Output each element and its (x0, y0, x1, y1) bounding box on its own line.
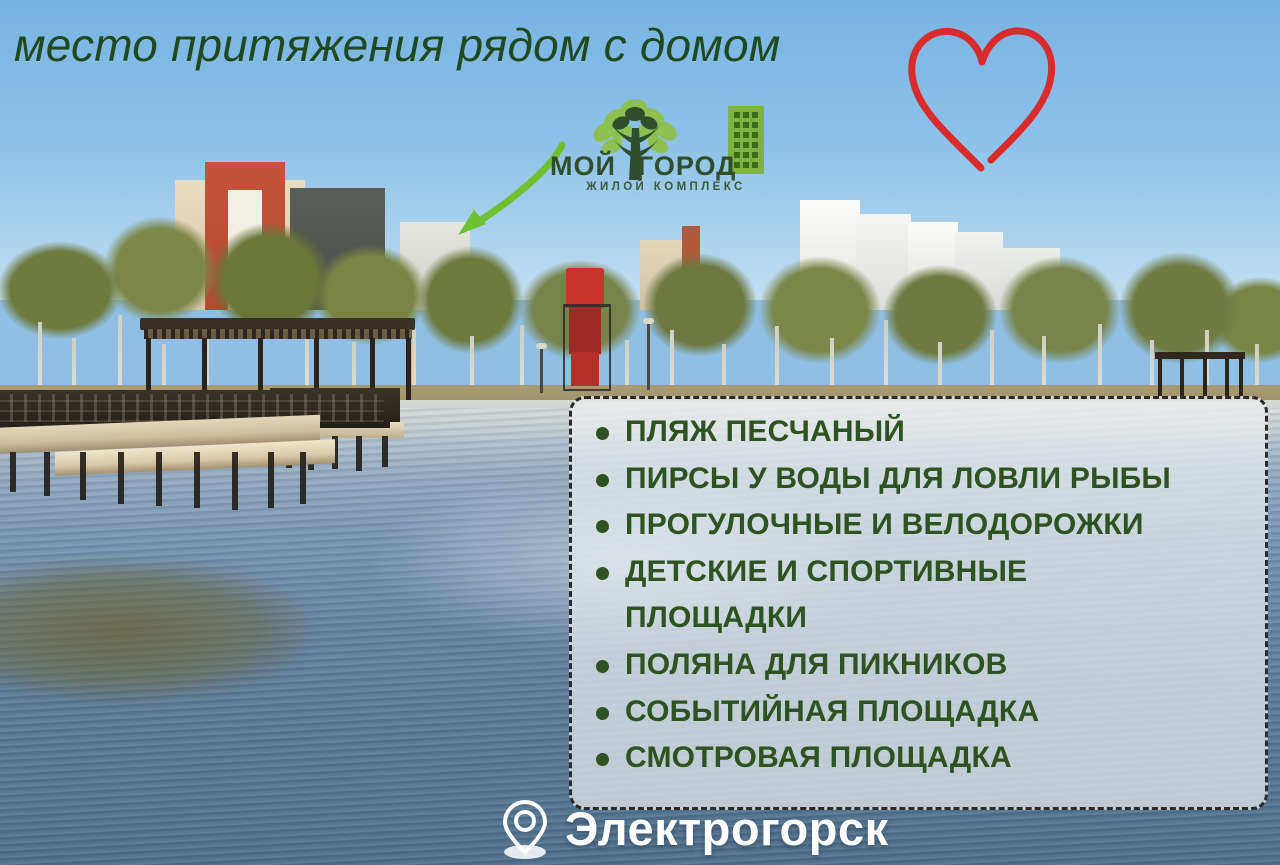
feature-label: ПОЛЯНА ДЛЯ ПИКНИКОВ (625, 650, 1255, 681)
bullet-icon (596, 707, 609, 720)
pavilion-pergola (140, 318, 415, 398)
logo: МОЙГОРОД ЖИЛОЙ КОМПЛЕКС (546, 98, 786, 203)
bullet-icon (596, 567, 609, 580)
headline-text: место притяжения рядом с домом (14, 22, 781, 68)
feature-label: СОБЫТИЙНАЯ ПЛОЩАДКА (625, 697, 1255, 728)
logo-brand-name: МОЙГОРОД (550, 153, 782, 180)
lamp-head (536, 343, 547, 349)
city-name: Электрогорск (565, 805, 889, 852)
heart-icon (903, 18, 1063, 173)
list-item: ПРОГУЛОЧНЫЕ И ВЕЛОДОРОЖКИ (590, 510, 1255, 541)
location-label: Электрогорск (497, 796, 889, 860)
water-reflection-trees (0, 560, 390, 730)
bullet-icon (596, 660, 609, 673)
list-item: ДЕТСКИЕ И СПОРТИВНЫЕ (590, 557, 1255, 588)
feature-label: ПЛЯЖ ПЕСЧАНЫЙ (625, 417, 1255, 448)
list-item: ПОЛЯНА ДЛЯ ПИКНИКОВ (590, 650, 1255, 681)
bullet-icon (596, 753, 609, 766)
bullet-icon-placeholder (596, 613, 609, 626)
features-list: ПЛЯЖ ПЕСЧАНЫЙ ПИРСЫ У ВОДЫ ДЛЯ ЛОВЛИ РЫБ… (572, 399, 1265, 774)
list-item: ПЛЯЖ ПЕСЧАНЫЙ (590, 417, 1255, 448)
list-item: СМОТРОВАЯ ПЛОЩАДКА (590, 743, 1255, 774)
list-item-continuation: ПЛОЩАДКИ (590, 603, 1255, 634)
feature-label: ПИРСЫ У ВОДЫ ДЛЯ ЛОВЛИ РЫБЫ (625, 464, 1255, 495)
bullet-icon (596, 520, 609, 533)
feature-label: ПЛОЩАДКИ (625, 603, 1255, 634)
map-pin-icon (497, 796, 553, 860)
lamp-post (540, 345, 543, 393)
list-item: СОБЫТИЙНАЯ ПЛОЩАДКА (590, 697, 1255, 728)
features-panel: ПЛЯЖ ПЕСЧАНЫЙ ПИРСЫ У ВОДЫ ДЛЯ ЛОВЛИ РЫБ… (569, 396, 1268, 810)
logo-tagline: ЖИЛОЙ КОМПЛЕКС (550, 182, 782, 194)
lamp-head (643, 318, 654, 324)
list-item: ПИРСЫ У ВОДЫ ДЛЯ ЛОВЛИ РЫБЫ (590, 464, 1255, 495)
play-tower (563, 268, 607, 386)
promo-poster: место притяжения рядом с домом (0, 0, 1280, 865)
pier-pilings-left (0, 452, 340, 522)
logo-brand-word-2: ГОРОД (638, 151, 737, 181)
lamp-post (647, 320, 650, 390)
feature-label: СМОТРОВАЯ ПЛОЩАДКА (625, 743, 1255, 774)
feature-label: ПРОГУЛОЧНЫЕ И ВЕЛОДОРОЖКИ (625, 510, 1255, 541)
bullet-icon (596, 474, 609, 487)
feature-label: ДЕТСКИЕ И СПОРТИВНЫЕ (625, 557, 1255, 588)
bullet-icon (596, 427, 609, 440)
logo-brand-word-1: МОЙ (550, 151, 616, 181)
pavilion-pergola-right (1155, 352, 1245, 396)
